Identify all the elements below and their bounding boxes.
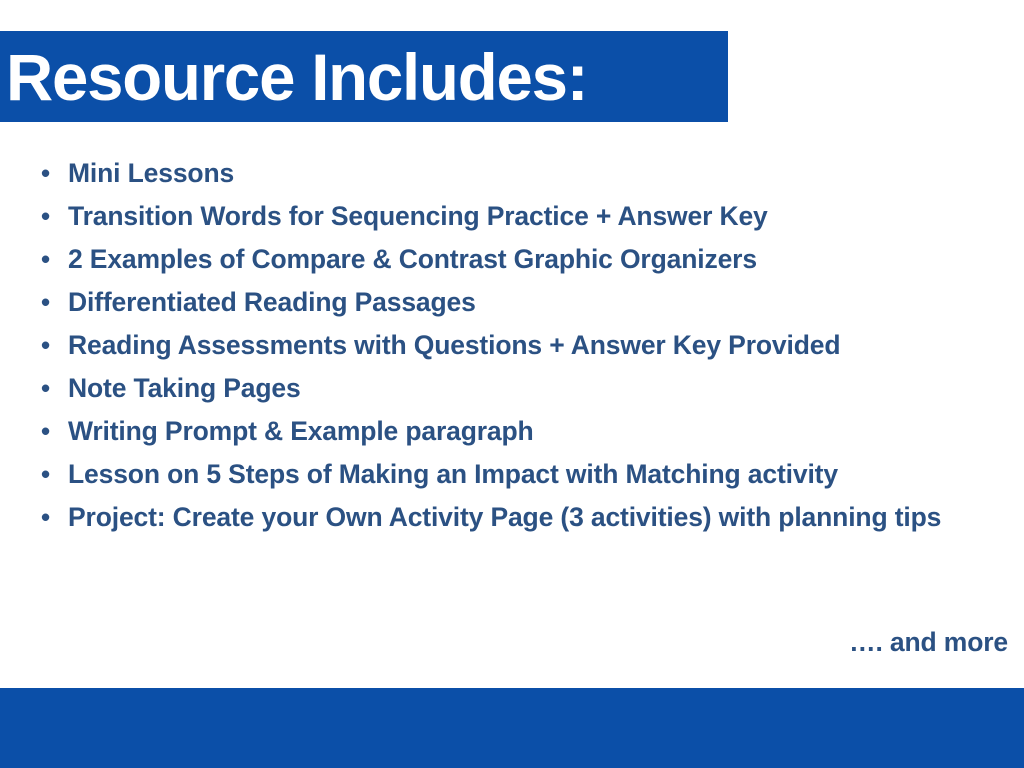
list-item-label: Note Taking Pages — [68, 373, 301, 403]
page-title: Resource Includes: — [0, 44, 587, 110]
list-item: • Lesson on 5 Steps of Making an Impact … — [34, 453, 1004, 496]
list-item-label: 2 Examples of Compare & Contrast Graphic… — [68, 244, 757, 274]
title-banner: Resource Includes: — [0, 31, 728, 122]
list-item-label: Transition Words for Sequencing Practice… — [68, 201, 768, 231]
resource-includes-list: • Mini Lessons • Transition Words for Se… — [34, 152, 1004, 539]
bullet-point-icon: • — [41, 281, 61, 324]
list-item-label: Reading Assessments with Questions + Ans… — [68, 330, 840, 360]
list-item-label: Lesson on 5 Steps of Making an Impact wi… — [68, 459, 838, 489]
list-item: • Writing Prompt & Example paragraph — [34, 410, 1004, 453]
bullet-point-icon: • — [41, 410, 61, 453]
list-item: • Differentiated Reading Passages — [34, 281, 1004, 324]
list-item: • Note Taking Pages — [34, 367, 1004, 410]
list-item-label: Writing Prompt & Example paragraph — [68, 416, 534, 446]
list-item: • Reading Assessments with Questions + A… — [34, 324, 1004, 367]
bullet-point-icon: • — [41, 324, 61, 367]
list-item: • Project: Create your Own Activity Page… — [34, 496, 948, 539]
list-item: • Transition Words for Sequencing Practi… — [34, 195, 1004, 238]
bottom-accent-bar — [0, 688, 1024, 768]
bullet-point-icon: • — [41, 367, 61, 410]
list-item: • Mini Lessons — [34, 152, 1004, 195]
list-item-label: Mini Lessons — [68, 158, 234, 188]
list-item-label: Project: Create your Own Activity Page (… — [68, 502, 941, 532]
bullet-point-icon: • — [41, 453, 61, 496]
bullet-point-icon: • — [41, 152, 61, 195]
slide-canvas: Resource Includes: • Mini Lessons • Tran… — [0, 0, 1024, 768]
and-more-note: …. and more — [849, 627, 1008, 658]
bullet-point-icon: • — [41, 496, 61, 539]
bullet-point-icon: • — [41, 195, 61, 238]
list-item-label: Differentiated Reading Passages — [68, 287, 476, 317]
list-item: • 2 Examples of Compare & Contrast Graph… — [34, 238, 1004, 281]
bullet-point-icon: • — [41, 238, 61, 281]
